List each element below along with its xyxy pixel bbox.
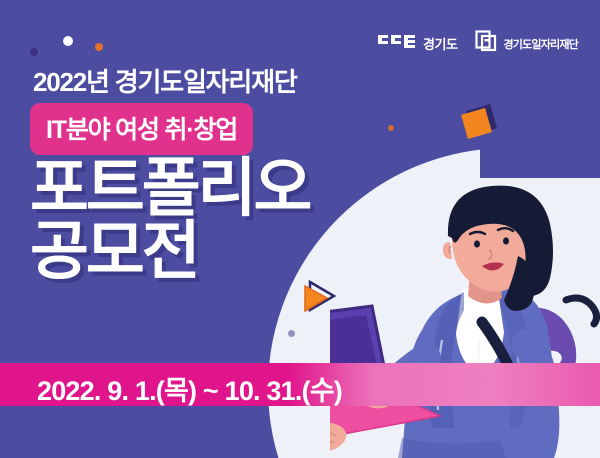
job-foundation-mark-icon — [475, 30, 497, 57]
schedule-period-text: 2022. 9. 1.(목) ~ 10. 31.(수) — [37, 369, 342, 408]
eye-right — [503, 237, 509, 244]
logo-job-foundation: 경기도일자리재단 — [475, 30, 578, 57]
page-title-line-2: 공모전 — [30, 221, 309, 282]
backpack-handle — [566, 298, 597, 324]
ear-shape — [443, 242, 452, 259]
gyeonggi-do-mark-icon — [377, 33, 417, 54]
dot-purple-icon — [30, 48, 38, 56]
eye-left — [474, 240, 480, 247]
dot-dark-icon — [288, 330, 295, 337]
logo-gyeonggi-do-label: 경기도 — [423, 34, 457, 53]
category-badge: IT분야 여성 취·창업 — [30, 103, 253, 155]
poster-root: 경기도 경기도일자리재단 2022년 경기도일자리재단 IT분야 여성 취·창업… — [0, 0, 600, 458]
page-title-line-1: 포트폴리오 — [30, 158, 309, 219]
dot-orange-small-icon — [388, 125, 394, 131]
logo-gyeonggi-do: 경기도 — [377, 33, 457, 54]
dot-white-icon — [63, 36, 73, 46]
woman-with-laptop-illustration — [330, 180, 600, 458]
year-organization-line: 2022년 경기도일자리재단 — [33, 62, 297, 99]
dot-orange-icon — [95, 43, 103, 51]
page-title: 포트폴리오 공모전 — [30, 158, 309, 282]
logo-bar: 경기도 경기도일자리재단 — [377, 30, 578, 57]
logo-job-foundation-label: 경기도일자리재단 — [503, 36, 578, 52]
